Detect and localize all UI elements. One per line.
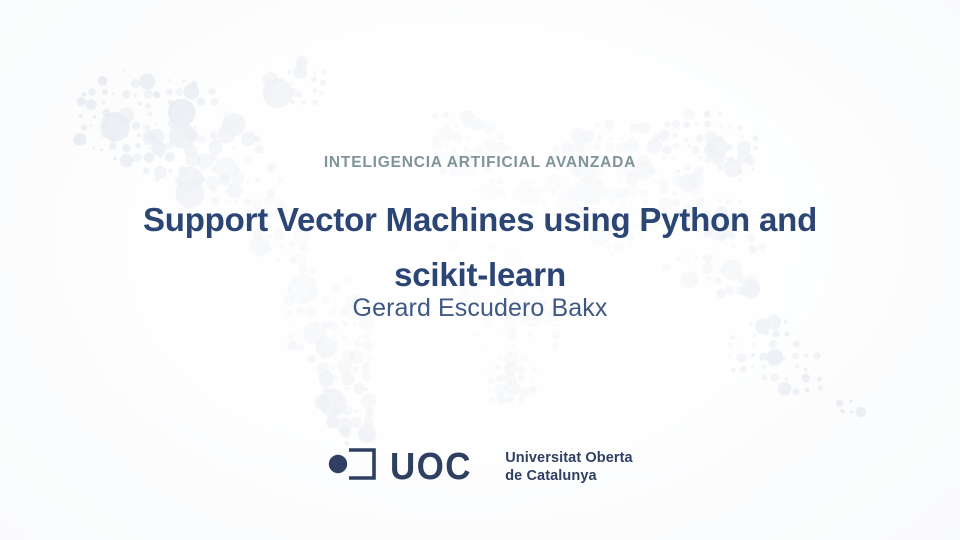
- uoc-wordmark-line-1: Universitat Oberta: [505, 449, 633, 467]
- page-title: Support Vector Machines using Python and…: [120, 192, 840, 302]
- uoc-wordmark-line-2: de Catalunya: [505, 467, 633, 485]
- uoc-acronym: UOC: [390, 447, 472, 487]
- title-line-2: scikit-learn: [394, 256, 566, 293]
- author-name: Gerard Escudero Bakx: [0, 294, 960, 323]
- uoc-bracket-dot-icon: [327, 446, 379, 487]
- course-label: INTELIGENCIA ARTIFICIAL AVANZADA: [0, 154, 960, 172]
- title-slide: INTELIGENCIA ARTIFICIAL AVANZADA Support…: [0, 0, 960, 540]
- uoc-logo: UOC Universitat Oberta de Catalunya: [0, 446, 960, 487]
- uoc-wordmark: Universitat Oberta de Catalunya: [505, 449, 633, 485]
- title-line-1: Support Vector Machines using Python and: [143, 201, 817, 238]
- slide-content: INTELIGENCIA ARTIFICIAL AVANZADA Support…: [0, 0, 960, 540]
